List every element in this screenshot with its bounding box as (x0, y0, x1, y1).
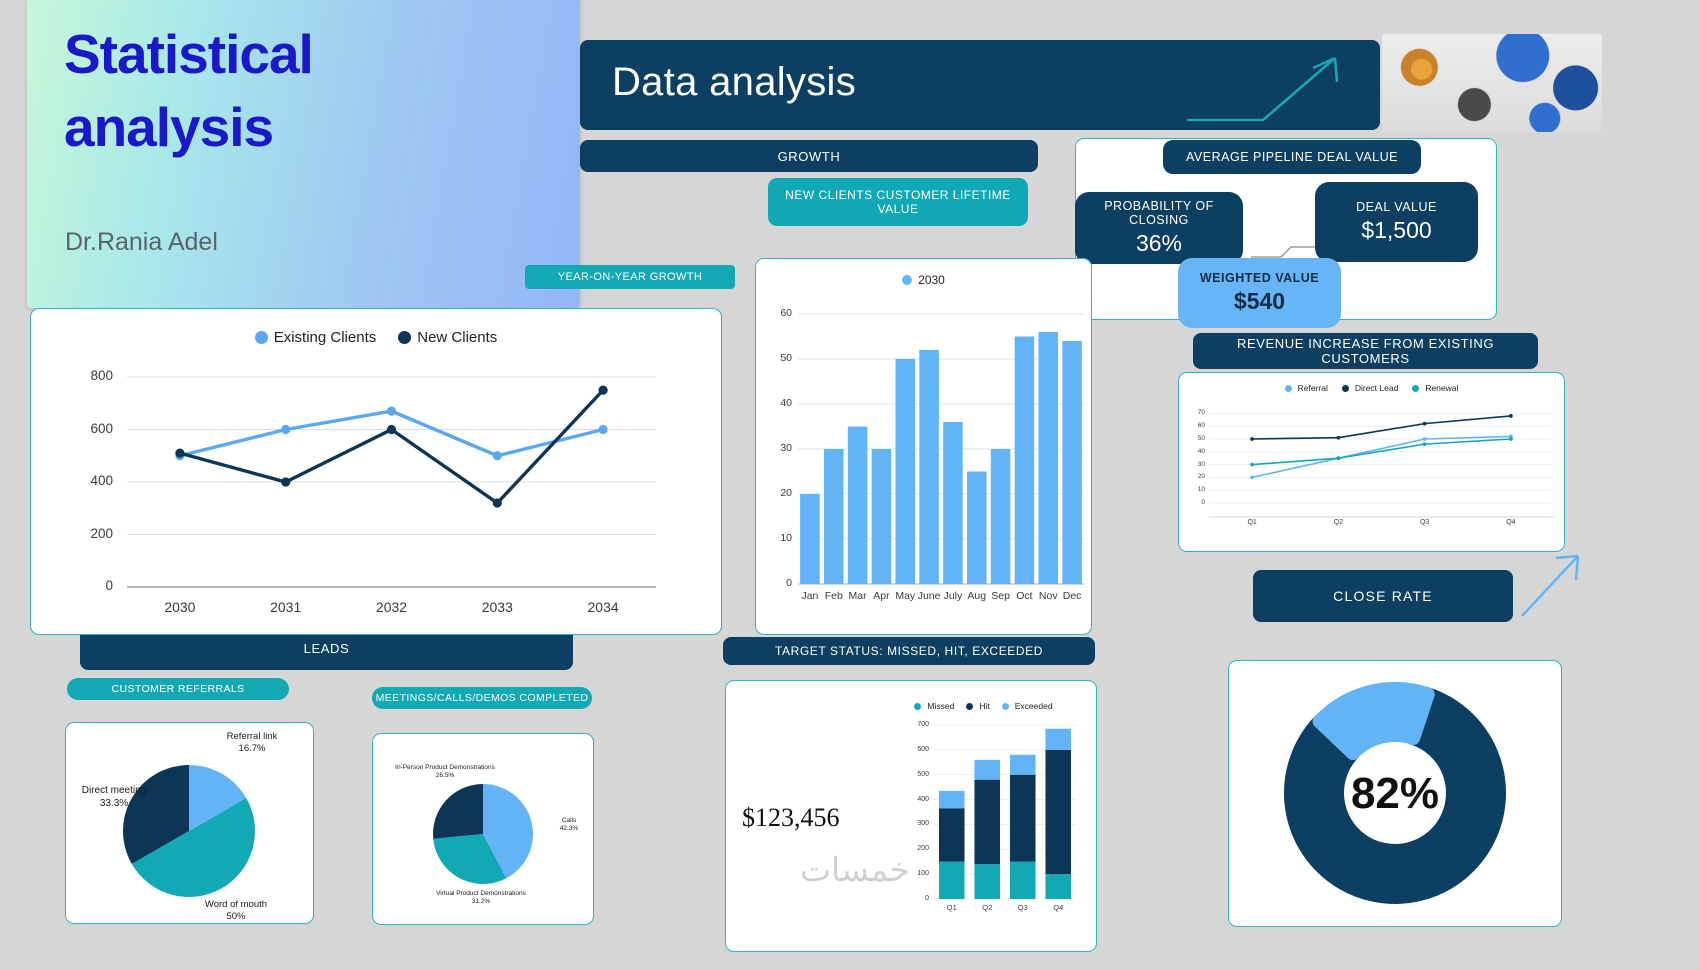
axis-tick-label: 200 (90, 526, 113, 541)
axis-tick-label: May (895, 590, 915, 602)
axis-tick-label: 2034 (588, 599, 619, 615)
label-close-rate: CLOSE RATE (1253, 570, 1513, 622)
pie-slice-name: Word of mouth (186, 899, 286, 911)
axis-tick-label: 800 (90, 368, 113, 383)
axis-tick-label: 50 (1198, 435, 1205, 442)
axis-tick-label: July (944, 590, 963, 602)
axis-tick-label: 10 (1198, 486, 1205, 493)
axis-tick-label: 500 (917, 771, 929, 778)
pipeline-header-label: AVERAGE PIPELINE DEAL VALUE (1186, 150, 1398, 164)
probability-caption: PROBABILITY OF CLOSING (1075, 199, 1243, 227)
axis-tick-label: 10 (780, 532, 792, 544)
label-year-on-year-growth: YEAR-ON-YEAR GROWTH (525, 265, 735, 289)
axis-tick-label: 40 (780, 397, 792, 409)
axis-tick-label: 30 (1198, 461, 1205, 468)
label-target-status: TARGET STATUS: MISSED, HIT, EXCEEDED (723, 637, 1095, 665)
deal-value-amount: $1,500 (1361, 217, 1431, 244)
pie-slice-label: Word of mouth50% (186, 899, 286, 923)
axis-tick-label: 50 (780, 352, 792, 364)
axis-tick-label: Jan (801, 590, 818, 602)
label-growth: GROWTH (580, 140, 1038, 172)
pipeline-header-node: AVERAGE PIPELINE DEAL VALUE (1163, 140, 1421, 174)
label-customer-referrals: CUSTOMER REFERRALS (67, 678, 289, 700)
deal-value-node: DEAL VALUE $1,500 (1315, 182, 1478, 262)
small-arrow-icon (1520, 540, 1585, 620)
label-meetings-calls-demos: MEETINGS/CALLS/DEMOS COMPLETED (372, 687, 592, 709)
pie-slice-label: Virtual Product Demonstrations31.2% (416, 890, 546, 906)
deal-value-caption: DEAL VALUE (1356, 200, 1437, 214)
pie-slice-percent: 33.3% (64, 798, 164, 811)
probability-of-closing-node: PROBABILITY OF CLOSING 36% (1075, 192, 1243, 264)
weighted-value-node: WEIGHTED VALUE $540 (1178, 258, 1341, 328)
axis-tick-label: Q4 (1053, 903, 1063, 912)
pie-slice-percent: 50% (186, 911, 286, 923)
growth-arrow-icon (1185, 50, 1365, 125)
axis-tick-label: 2030 (164, 599, 195, 615)
pie-slice-name: Referral link (202, 731, 302, 743)
axis-tick-label: Nov (1039, 590, 1058, 602)
target-status-chart: $123,456 MissedHitExceeded 0100200300400… (725, 680, 1097, 952)
pie-slice-label: Calls42.3% (548, 817, 590, 833)
page-title: Statistical analysis (64, 18, 524, 163)
stacked-bar-plot (726, 681, 1096, 951)
pie-slice-name: Direct meeting (64, 785, 164, 798)
close-rate-chart: 82% (1228, 660, 1562, 927)
axis-tick-label: 2031 (270, 599, 301, 615)
pie-slice-label: In-Person Product Demonstrations26.5% (380, 764, 510, 780)
axis-tick-label: 0 (105, 578, 113, 593)
office-supplies-photo (1382, 34, 1602, 132)
weighted-value-amount: $540 (1234, 288, 1285, 315)
axis-tick-label: Mar (849, 590, 867, 602)
axis-tick-label: 0 (786, 577, 792, 589)
new-clients-monthly-chart: 2030 0102030405060JanFebMarAprMayJuneJul… (755, 258, 1092, 635)
revenue-increase-chart: ReferralDirect LeadRenewal 0102030405060… (1178, 372, 1565, 552)
header-title: Data analysis (612, 60, 856, 105)
axis-tick-label: Feb (825, 590, 843, 602)
axis-tick-label: 700 (917, 721, 929, 728)
axis-tick-label: 400 (90, 473, 113, 488)
author-name: Dr.Rania Adel (65, 228, 218, 257)
axis-tick-label: 20 (1198, 473, 1205, 480)
weighted-value-caption: WEIGHTED VALUE (1200, 271, 1319, 285)
watermark: خمسات (690, 850, 1020, 910)
axis-tick-label: Apr (873, 590, 889, 602)
meetings-calls-demos-chart: Calls42.3%Virtual Product Demonstrations… (372, 733, 594, 925)
axis-tick-label: 60 (780, 307, 792, 319)
pie-slice-label: Direct meeting33.3% (64, 785, 164, 810)
axis-tick-label: Q4 (1506, 519, 1515, 526)
axis-tick-label: 60 (1198, 422, 1205, 429)
axis-tick-label: 400 (917, 796, 929, 803)
close-rate-value: 82% (1229, 661, 1561, 926)
axis-tick-label: Oct (1016, 590, 1032, 602)
axis-tick-label: Sep (991, 590, 1010, 602)
axis-tick-label: Aug (967, 590, 986, 602)
axis-tick-label: 600 (90, 421, 113, 436)
customer-referrals-chart: Referral link16.7%Word of mouth50%Direct… (65, 722, 314, 924)
bar-chart-plot (756, 259, 1091, 634)
pie-slice-percent: 16.7% (202, 743, 302, 755)
probability-value: 36% (1136, 230, 1182, 257)
axis-tick-label: 20 (780, 487, 792, 499)
axis-tick-label: 2032 (376, 599, 407, 615)
dashboard-canvas: Statistical analysis Dr.Rania Adel Data … (0, 0, 1700, 970)
axis-tick-label: Q2 (1334, 519, 1343, 526)
pie-slice-name: Calls (548, 817, 590, 825)
axis-tick-label: June (918, 590, 941, 602)
axis-tick-label: 300 (917, 820, 929, 827)
axis-tick-label: 40 (1198, 448, 1205, 455)
title-card: Statistical analysis Dr.Rania Adel (27, 0, 580, 308)
axis-tick-label: 2033 (482, 599, 513, 615)
axis-tick-label: Q3 (1420, 519, 1429, 526)
line-chart-plot (31, 309, 721, 634)
label-new-clients-clv: NEW CLIENTS CUSTOMER LIFETIME VALUE (768, 178, 1028, 226)
pie-slice-label: Referral link16.7% (202, 731, 302, 755)
year-on-year-growth-chart: Existing ClientsNew Clients 020040060080… (30, 308, 722, 635)
axis-tick-label: Dec (1063, 590, 1082, 602)
axis-tick-label: 70 (1198, 409, 1205, 416)
pie-slice-percent: 42.3% (548, 825, 590, 833)
axis-tick-label: Q1 (1247, 519, 1256, 526)
axis-tick-label: 0 (1201, 499, 1205, 506)
pie-slice-name: In-Person Product Demonstrations (380, 764, 510, 772)
pie-slice-name: Virtual Product Demonstrations (416, 890, 546, 898)
pie-slice-percent: 31.2% (416, 898, 546, 906)
axis-tick-label: 30 (780, 442, 792, 454)
label-revenue-increase: REVENUE INCREASE FROM EXISTING CUSTOMERS (1193, 333, 1538, 369)
pie-slice-percent: 26.5% (380, 772, 510, 780)
axis-tick-label: 600 (917, 746, 929, 753)
